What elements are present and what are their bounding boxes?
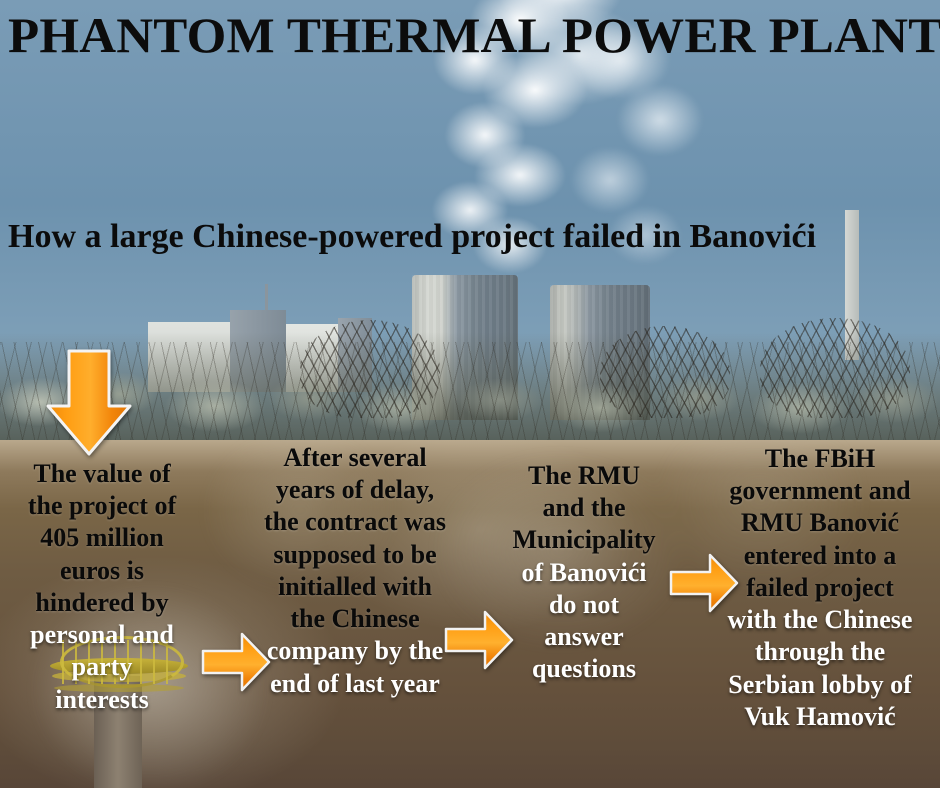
step-line: years of delay,	[232, 474, 478, 506]
step-line: The value of	[2, 458, 202, 490]
step-line: Municipality	[492, 524, 676, 556]
step-line: Vuk Hamović	[700, 701, 940, 733]
arrow-down-icon	[44, 348, 134, 458]
infographic-poster: PHANTOM THERMAL POWER PLANT How a large …	[0, 0, 940, 788]
step-line: The FBiH	[700, 443, 940, 475]
step-line: interests	[2, 684, 202, 716]
arrow-right-icon	[443, 609, 515, 671]
page-title: PHANTOM THERMAL POWER PLANT	[8, 6, 940, 64]
step-line: questions	[492, 653, 676, 685]
thin-stack	[265, 284, 268, 310]
tree-branches	[0, 342, 940, 452]
step-line: party	[2, 651, 202, 683]
step-line: Serbian lobby of	[700, 669, 940, 701]
step-line: government and	[700, 475, 940, 507]
subtitle: How a large Chinese-powered project fail…	[8, 212, 888, 262]
step-line: RMU Banović	[700, 507, 940, 539]
step-line: do not	[492, 589, 676, 621]
step-line: personal and	[2, 619, 202, 651]
step-line: After several	[232, 442, 478, 474]
step-line: initialled with	[232, 571, 478, 603]
step-text-1: The value of the project of 405 million …	[2, 458, 202, 716]
arrow-right-icon	[200, 631, 272, 693]
step-line: 405 million	[2, 522, 202, 554]
step-line: the contract was	[232, 506, 478, 538]
step-line: answer	[492, 621, 676, 653]
step-line: of Banovići	[492, 557, 676, 589]
step-line: euros is	[2, 555, 202, 587]
step-line: and the	[492, 492, 676, 524]
steam-plume-secondary	[500, 20, 760, 320]
step-text-3: The RMU and the Municipality of Banovići…	[492, 460, 676, 686]
step-line: The RMU	[492, 460, 676, 492]
step-line: the project of	[2, 490, 202, 522]
step-line: hindered by	[2, 587, 202, 619]
step-line: supposed to be	[232, 539, 478, 571]
step-line: through the	[700, 636, 940, 668]
arrow-right-icon	[668, 552, 740, 614]
